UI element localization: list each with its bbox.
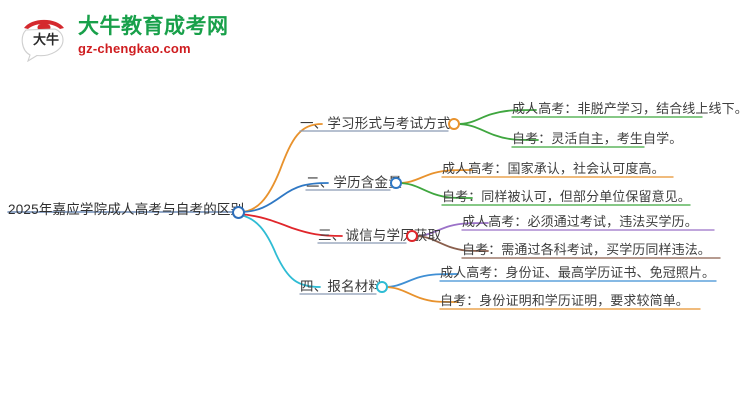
leaf-label-3-1[interactable]: 成人高考：必须通过考试，违法买学历。: [462, 211, 698, 230]
branch-label-4[interactable]: 四、报名材料: [300, 275, 382, 295]
leaf-label-4-2[interactable]: 自考：身份证明和学历证明，要求较简单。: [440, 290, 689, 309]
branch-node-dot-3[interactable]: [406, 230, 418, 242]
branch-node-dot-1[interactable]: [448, 118, 460, 130]
leaf-label-1-1[interactable]: 成人高考：非脱产学习，结合线上线下。: [512, 98, 748, 117]
root-node-dot[interactable]: [232, 206, 245, 219]
mindmap-canvas: 2025年嘉应学院成人高考与自考的区别 一、学习形式与考试方式 成人高考：非脱产…: [0, 0, 750, 410]
leaf-label-1-2[interactable]: 自考：灵活自主，考生自学。: [512, 128, 682, 147]
branch-label-2[interactable]: 二、学历含金量: [306, 171, 402, 191]
leaf-label-3-2[interactable]: 自考：需通过各科考试，买学历同样违法。: [462, 239, 711, 258]
branch-label-1[interactable]: 一、学习形式与考试方式: [300, 112, 451, 132]
branch-node-dot-4[interactable]: [376, 281, 388, 293]
leaf-label-4-1[interactable]: 成人高考：身份证、最高学历证书、免冠照片。: [440, 262, 715, 281]
branch-node-dot-2[interactable]: [390, 177, 402, 189]
leaf-label-2-1[interactable]: 成人高考：国家承认，社会认可度高。: [442, 158, 665, 177]
leaf-label-2-2[interactable]: 自考：同样被认可，但部分单位保留意见。: [442, 186, 691, 205]
mindmap-root-label[interactable]: 2025年嘉应学院成人高考与自考的区别: [8, 198, 244, 218]
branch-label-3[interactable]: 三、诚信与学历获取: [318, 224, 441, 244]
